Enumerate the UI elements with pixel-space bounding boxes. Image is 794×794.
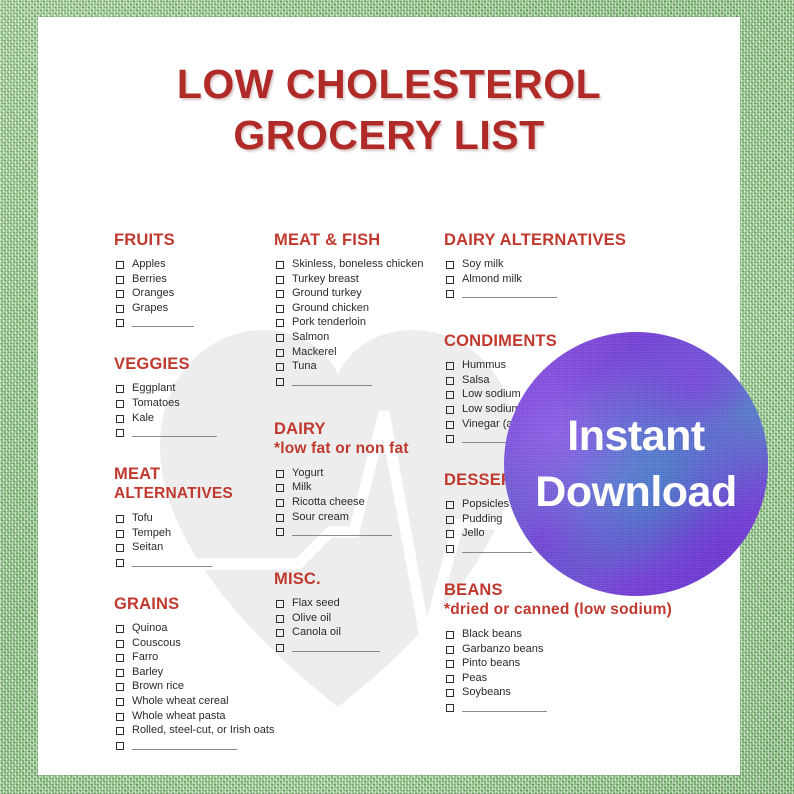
list-item[interactable]: Olive oil bbox=[274, 611, 449, 626]
checkbox-icon[interactable] bbox=[116, 713, 124, 721]
list-item-label: Ricotta cheese bbox=[292, 495, 365, 510]
list-item-label: Salmon bbox=[292, 330, 329, 345]
section-heading: DAIRY ALTERNATIVES bbox=[444, 230, 714, 250]
list-item-label: Barley bbox=[132, 665, 163, 680]
checklist: Black beansGarbanzo beansPinto beansPeas… bbox=[444, 627, 714, 712]
list-item-label: Quinoa bbox=[132, 621, 167, 636]
list-item[interactable]: Pinto beans bbox=[444, 656, 714, 671]
write-in-rule bbox=[462, 542, 532, 553]
list-item[interactable]: Tofu bbox=[114, 511, 264, 526]
write-in-rule bbox=[462, 701, 547, 712]
list-item[interactable]: Quinoa bbox=[114, 621, 264, 636]
write-in-rule bbox=[132, 556, 212, 567]
checkbox-icon[interactable] bbox=[446, 631, 454, 639]
section-meat: MEATALTERNATIVESTofuTempehSeitan bbox=[114, 464, 264, 567]
list-item[interactable]: Black beans bbox=[444, 627, 714, 642]
list-item[interactable]: Turkey breast bbox=[274, 272, 449, 287]
checkbox-icon[interactable] bbox=[276, 378, 284, 386]
checkbox-icon[interactable] bbox=[276, 261, 284, 269]
checkbox-icon[interactable] bbox=[116, 742, 124, 750]
grocery-column-1: FRUITSApplesBerriesOrangesGrapesVEGGIESE… bbox=[114, 230, 264, 750]
checkbox-icon[interactable] bbox=[446, 646, 454, 654]
section-meat-fish: MEAT & FISHSkinless, boneless chickenTur… bbox=[274, 230, 449, 386]
list-item-label: Black beans bbox=[462, 627, 522, 642]
list-item[interactable]: Tempeh bbox=[114, 526, 264, 541]
section-spacer bbox=[444, 298, 714, 331]
list-item[interactable]: Couscous bbox=[114, 636, 264, 651]
section-subheading: *low fat or non fat bbox=[274, 439, 449, 459]
list-item-label: Turkey breast bbox=[292, 272, 359, 287]
list-item[interactable]: Farro bbox=[114, 650, 264, 665]
list-item-label: Tomatoes bbox=[132, 396, 180, 411]
blank-write-in-row[interactable] bbox=[274, 374, 449, 386]
list-item-label: Canola oil bbox=[292, 625, 341, 640]
section-spacer bbox=[274, 386, 449, 419]
checklist: Flax seedOlive oilCanola oil bbox=[274, 596, 449, 652]
list-item[interactable]: Kale bbox=[114, 411, 264, 426]
section-heading: MEAT & FISH bbox=[274, 230, 449, 250]
list-item[interactable]: Rolled, steel-cut, or Irish oats bbox=[114, 723, 264, 738]
list-item-label: Brown rice bbox=[132, 679, 184, 694]
list-item-label: Salsa bbox=[462, 373, 490, 388]
checkbox-icon[interactable] bbox=[276, 629, 284, 637]
list-item-label: Yogurt bbox=[292, 466, 323, 481]
checkbox-icon[interactable] bbox=[116, 654, 124, 662]
checkbox-icon[interactable] bbox=[276, 499, 284, 507]
list-item[interactable]: Soybeans bbox=[444, 685, 714, 700]
instant-download-badge[interactable]: Instant Download bbox=[504, 332, 768, 596]
list-item-label: Couscous bbox=[132, 636, 181, 651]
checkbox-icon[interactable] bbox=[276, 528, 284, 536]
list-item-label: Seitan bbox=[132, 540, 163, 555]
list-item-label: Milk bbox=[292, 480, 312, 495]
checkbox-icon[interactable] bbox=[276, 514, 284, 522]
checkbox-icon[interactable] bbox=[446, 501, 454, 509]
list-item[interactable]: Ground chicken bbox=[274, 301, 449, 316]
list-item[interactable]: Whole wheat cereal bbox=[114, 694, 264, 709]
list-item-label: Garbanzo beans bbox=[462, 642, 543, 657]
badge-line-2: Download bbox=[535, 464, 736, 520]
checkbox-icon[interactable] bbox=[276, 484, 284, 492]
checkbox-icon[interactable] bbox=[446, 435, 454, 443]
write-in-rule bbox=[292, 375, 372, 386]
list-item-label: Vinegar (a bbox=[462, 417, 513, 432]
list-item-label: Tempeh bbox=[132, 526, 171, 541]
section-heading: VEGGIES bbox=[114, 354, 264, 374]
list-item[interactable]: Sour cream bbox=[274, 510, 449, 525]
section-grains: GRAINSQuinoaCouscousFarroBarleyBrown ric… bbox=[114, 594, 264, 750]
list-item-label: Kale bbox=[132, 411, 154, 426]
title-line-2: GROCERY LIST bbox=[38, 110, 740, 161]
write-in-rule bbox=[462, 287, 557, 298]
blank-write-in-row[interactable] bbox=[274, 640, 449, 652]
badge-line-1: Instant bbox=[567, 408, 704, 464]
checkbox-icon[interactable] bbox=[116, 276, 124, 284]
write-in-rule bbox=[292, 641, 380, 652]
checkbox-icon[interactable] bbox=[116, 559, 124, 567]
section-fruits: FRUITSApplesBerriesOrangesGrapes bbox=[114, 230, 264, 327]
list-item[interactable]: Eggplant bbox=[114, 381, 264, 396]
list-item-label: Skinless, boneless chicken bbox=[292, 257, 423, 272]
list-item-label: Whole wheat cereal bbox=[132, 694, 229, 709]
checkbox-icon[interactable] bbox=[446, 530, 454, 538]
checklist: TofuTempehSeitan bbox=[114, 511, 264, 567]
list-item[interactable]: Milk bbox=[274, 480, 449, 495]
section-dairy-alternatives: DAIRY ALTERNATIVESSoy milkAlmond milk bbox=[444, 230, 714, 298]
section-heading: MISC. bbox=[274, 569, 449, 589]
section-heading: GRAINS bbox=[114, 594, 264, 614]
list-item-label: Rolled, steel-cut, or Irish oats bbox=[132, 723, 274, 738]
list-item[interactable]: Brown rice bbox=[114, 679, 264, 694]
section-subheading: *dried or canned (low sodium) bbox=[444, 600, 714, 620]
checkbox-icon[interactable] bbox=[446, 545, 454, 553]
list-item[interactable]: Grapes bbox=[114, 301, 264, 316]
checkbox-icon[interactable] bbox=[116, 515, 124, 523]
blank-write-in-row[interactable] bbox=[444, 286, 714, 298]
section-spacer bbox=[114, 437, 264, 464]
list-item-label: Jello bbox=[462, 526, 485, 541]
section-heading: MEATALTERNATIVES bbox=[114, 464, 264, 504]
checkbox-icon[interactable] bbox=[116, 625, 124, 633]
checkbox-icon[interactable] bbox=[116, 544, 124, 552]
checkbox-icon[interactable] bbox=[276, 363, 284, 371]
checklist: ApplesBerriesOrangesGrapes bbox=[114, 257, 264, 327]
list-item-label: Low sodium bbox=[462, 387, 521, 402]
blank-write-in-row[interactable] bbox=[114, 738, 264, 750]
checkbox-icon[interactable] bbox=[116, 727, 124, 735]
list-item[interactable]: Garbanzo beans bbox=[444, 642, 714, 657]
checkbox-icon[interactable] bbox=[276, 644, 284, 652]
list-item-label: Sour cream bbox=[292, 510, 349, 525]
checkbox-icon[interactable] bbox=[276, 276, 284, 284]
section-misc: MISC.Flax seedOlive oilCanola oil bbox=[274, 569, 449, 652]
list-item[interactable]: Soy milk bbox=[444, 257, 714, 272]
section-veggies: VEGGIESEggplantTomatoesKale bbox=[114, 354, 264, 437]
blank-write-in-row[interactable] bbox=[114, 555, 264, 567]
list-item-label: Soy milk bbox=[462, 257, 504, 272]
checkbox-icon[interactable] bbox=[276, 615, 284, 623]
checkbox-icon[interactable] bbox=[446, 276, 454, 284]
list-item[interactable]: Seitan bbox=[114, 540, 264, 555]
section-beans: BEANS*dried or canned (low sodium)Black … bbox=[444, 580, 714, 712]
list-item[interactable]: Pork tenderloin bbox=[274, 315, 449, 330]
list-item-label: Pudding bbox=[462, 512, 502, 527]
checkbox-icon[interactable] bbox=[446, 689, 454, 697]
checkbox-icon[interactable] bbox=[446, 675, 454, 683]
checkbox-icon[interactable] bbox=[116, 429, 124, 437]
list-item[interactable]: Yogurt bbox=[274, 466, 449, 481]
list-item-label: Pork tenderloin bbox=[292, 315, 366, 330]
list-item[interactable]: Almond milk bbox=[444, 272, 714, 287]
checklist: Soy milkAlmond milk bbox=[444, 257, 714, 298]
checkbox-icon[interactable] bbox=[446, 290, 454, 298]
list-item[interactable]: Salmon bbox=[274, 330, 449, 345]
list-item[interactable]: Mackerel bbox=[274, 345, 449, 360]
list-item[interactable]: Canola oil bbox=[274, 625, 449, 640]
list-item[interactable]: Oranges bbox=[114, 286, 264, 301]
list-item-label: Apples bbox=[132, 257, 166, 272]
list-item[interactable]: Tomatoes bbox=[114, 396, 264, 411]
list-item-label: Peas bbox=[462, 671, 487, 686]
checkbox-icon[interactable] bbox=[116, 640, 124, 648]
checkbox-icon[interactable] bbox=[116, 415, 124, 423]
checkbox-icon[interactable] bbox=[446, 406, 454, 414]
checkbox-icon[interactable] bbox=[276, 334, 284, 342]
list-item-label: Grapes bbox=[132, 301, 168, 316]
list-item-label: Ground chicken bbox=[292, 301, 369, 316]
section-dairy: DAIRY*low fat or non fatYogurtMilkRicott… bbox=[274, 419, 449, 536]
section-spacer bbox=[114, 327, 264, 354]
section-spacer bbox=[274, 536, 449, 569]
list-item-label: Soybeans bbox=[462, 685, 511, 700]
list-item-label: Farro bbox=[132, 650, 158, 665]
blank-write-in-row[interactable] bbox=[114, 425, 264, 437]
list-item-label: Low sodium bbox=[462, 402, 521, 417]
checkbox-icon[interactable] bbox=[446, 421, 454, 429]
list-item[interactable]: Peas bbox=[444, 671, 714, 686]
section-subheading: ALTERNATIVES bbox=[114, 484, 264, 504]
list-item-label: Whole wheat pasta bbox=[132, 709, 226, 724]
checklist: YogurtMilkRicotta cheeseSour cream bbox=[274, 466, 449, 536]
checkbox-icon[interactable] bbox=[116, 290, 124, 298]
checkbox-icon[interactable] bbox=[116, 530, 124, 538]
list-item-label: Almond milk bbox=[462, 272, 522, 287]
list-item-label: Tofu bbox=[132, 511, 153, 526]
list-item-label: Ground turkey bbox=[292, 286, 362, 301]
checkbox-icon[interactable] bbox=[446, 660, 454, 668]
checkbox-icon[interactable] bbox=[116, 385, 124, 393]
checkbox-icon[interactable] bbox=[446, 362, 454, 370]
list-item[interactable]: Berries bbox=[114, 272, 264, 287]
checkbox-icon[interactable] bbox=[446, 261, 454, 269]
checkbox-icon[interactable] bbox=[116, 400, 124, 408]
page-title: LOW CHOLESTEROL GROCERY LIST bbox=[38, 59, 740, 161]
checkbox-icon[interactable] bbox=[116, 669, 124, 677]
grocery-column-2: MEAT & FISHSkinless, boneless chickenTur… bbox=[274, 230, 449, 652]
title-line-1: LOW CHOLESTEROL bbox=[38, 59, 740, 110]
blank-write-in-row[interactable] bbox=[444, 700, 714, 712]
checklist: QuinoaCouscousFarroBarleyBrown riceWhole… bbox=[114, 621, 264, 750]
checkbox-icon[interactable] bbox=[446, 377, 454, 385]
list-item-label: Mackerel bbox=[292, 345, 337, 360]
blank-write-in-row[interactable] bbox=[114, 315, 264, 327]
list-item[interactable]: Tuna bbox=[274, 359, 449, 374]
list-item[interactable]: Flax seed bbox=[274, 596, 449, 611]
write-in-rule bbox=[292, 525, 392, 536]
list-item-label: Berries bbox=[132, 272, 167, 287]
blank-write-in-row[interactable] bbox=[274, 524, 449, 536]
list-item[interactable]: Apples bbox=[114, 257, 264, 272]
list-item-label: Tuna bbox=[292, 359, 317, 374]
checkbox-icon[interactable] bbox=[276, 470, 284, 478]
list-item-label: Oranges bbox=[132, 286, 174, 301]
checkbox-icon[interactable] bbox=[116, 261, 124, 269]
list-item-label: Eggplant bbox=[132, 381, 175, 396]
list-item[interactable]: Ricotta cheese bbox=[274, 495, 449, 510]
checkbox-icon[interactable] bbox=[116, 698, 124, 706]
checkbox-icon[interactable] bbox=[446, 391, 454, 399]
checkbox-icon[interactable] bbox=[276, 305, 284, 313]
checkbox-icon[interactable] bbox=[276, 319, 284, 327]
checkbox-icon[interactable] bbox=[446, 516, 454, 524]
list-item-label: Popsicles bbox=[462, 497, 509, 512]
checkbox-icon[interactable] bbox=[276, 290, 284, 298]
checklist: Skinless, boneless chickenTurkey breastG… bbox=[274, 257, 449, 386]
write-in-rule bbox=[132, 426, 217, 437]
list-item[interactable]: Whole wheat pasta bbox=[114, 709, 264, 724]
checkbox-icon[interactable] bbox=[276, 349, 284, 357]
checkbox-icon[interactable] bbox=[116, 319, 124, 327]
checkbox-icon[interactable] bbox=[116, 683, 124, 691]
list-item[interactable]: Ground turkey bbox=[274, 286, 449, 301]
write-in-rule bbox=[132, 739, 237, 750]
section-heading: DAIRY*low fat or non fat bbox=[274, 419, 449, 459]
list-item-label: Olive oil bbox=[292, 611, 331, 626]
list-item[interactable]: Barley bbox=[114, 665, 264, 680]
list-item[interactable]: Skinless, boneless chicken bbox=[274, 257, 449, 272]
checklist: EggplantTomatoesKale bbox=[114, 381, 264, 437]
checkbox-icon[interactable] bbox=[116, 305, 124, 313]
list-item-label: Pinto beans bbox=[462, 656, 520, 671]
list-item-label: Hummus bbox=[462, 358, 506, 373]
section-heading: FRUITS bbox=[114, 230, 264, 250]
checkbox-icon[interactable] bbox=[276, 600, 284, 608]
checkbox-icon[interactable] bbox=[446, 704, 454, 712]
section-spacer bbox=[114, 567, 264, 594]
list-item-label: Flax seed bbox=[292, 596, 340, 611]
write-in-rule bbox=[132, 316, 194, 327]
